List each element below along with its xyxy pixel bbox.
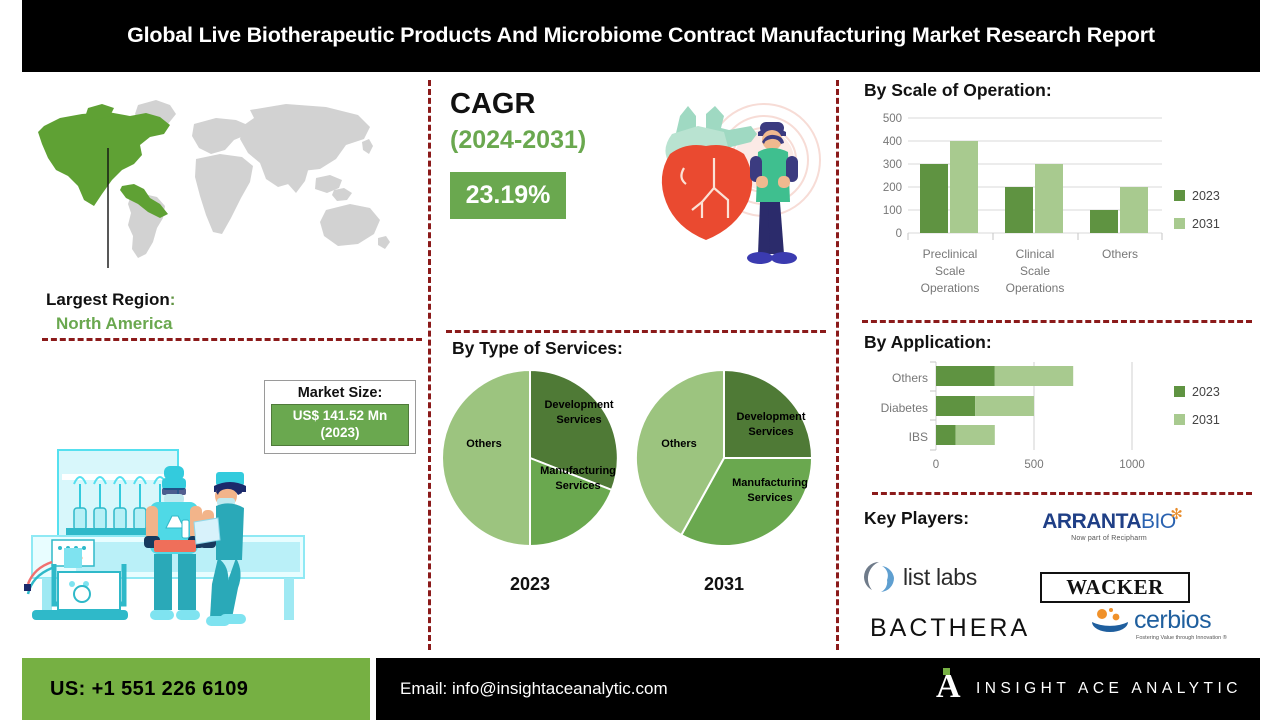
by-application-chart: Others Diabetes IBS 0 500 1000 2023 2031 [862, 358, 1262, 492]
brand-logo: A INSIGHT ACE ANALYTIC [936, 658, 1242, 720]
market-size-value: US$ 141.52 Mn (2023) [271, 404, 409, 446]
footer-phone-text: US: +1 551 226 6109 [50, 678, 248, 701]
horizontal-divider-middle [446, 330, 826, 333]
svg-text:2031: 2031 [1192, 217, 1220, 231]
svg-text:200: 200 [883, 182, 902, 194]
vertical-divider-left [428, 80, 431, 650]
bacthera-logo: BACTHERA [870, 614, 1030, 643]
pie-2023-label-others: Others [454, 438, 514, 450]
cagr-period: (2024-2031) [450, 126, 586, 155]
svg-text:2023: 2023 [1192, 189, 1220, 203]
pie-2031-year: 2031 [634, 574, 814, 595]
wacker-text: WACKER [1066, 575, 1164, 600]
horizontal-divider-left [42, 338, 422, 341]
svg-text:300: 300 [883, 159, 902, 171]
by-scale-of-operation-title: By Scale of Operation: [864, 80, 1052, 101]
pie-2023-year: 2023 [440, 574, 620, 595]
arranta-bio-logo: ✻ ARRANTABIO Now part of Recipharm [1014, 510, 1204, 542]
list-labs-mark-icon [862, 560, 896, 594]
list-labs-text: list labs [903, 564, 977, 591]
horizontal-divider-right-bottom [872, 492, 1252, 495]
pie-2031-label-development: Development Services [722, 410, 820, 440]
by-type-of-services-title: By Type of Services: [452, 338, 623, 359]
largest-region-label: Largest Region: [46, 290, 175, 310]
cagr-value-badge: 23.19% [450, 172, 566, 219]
pie-2023-label-development: Development Services [530, 398, 628, 428]
footer-contact-block: Email: info@insightaceanalytic.com A INS… [376, 658, 1260, 720]
svg-text:0: 0 [896, 228, 902, 240]
svg-text:Others: Others [1102, 247, 1138, 261]
arranta-main-text: ARRANTA [1042, 510, 1141, 533]
footer-bar: US: +1 551 226 6109 Email: info@insighta… [0, 658, 1280, 720]
footer-email-text[interactable]: Email: info@insightaceanalytic.com [400, 679, 668, 699]
svg-text:1000: 1000 [1119, 459, 1145, 471]
wacker-logo: WACKER [1040, 572, 1190, 603]
list-labs-logo: list labs [862, 560, 1032, 594]
brand-name-text: INSIGHT ACE ANALYTIC [976, 680, 1242, 698]
cerbios-logo: cerbios Fostering Value through Innovati… [1090, 606, 1260, 641]
svg-text:2031: 2031 [1192, 413, 1220, 427]
key-players-logos: ✻ ARRANTABIO Now part of Recipharm list … [862, 502, 1262, 652]
brand-mark-icon: A [936, 670, 962, 708]
largest-region-block: Largest Region: North America [46, 290, 175, 334]
svg-text:400: 400 [883, 136, 902, 148]
svg-text:Scale: Scale [1020, 264, 1050, 278]
infographic-body: Largest Region: North America Market Siz… [0, 72, 1280, 655]
pie-chart-2031: Others Development Services Manufacturin… [634, 368, 814, 595]
pie-2023-label-manufacturing: Manufacturing Services [528, 464, 628, 494]
svg-text:Preclinical: Preclinical [923, 247, 978, 261]
svg-text:Others: Others [892, 371, 928, 385]
svg-text:500: 500 [1024, 459, 1043, 471]
page-title: Global Live Biotherapeutic Products And … [117, 22, 1165, 50]
svg-text:0: 0 [933, 459, 939, 471]
svg-text:Diabetes: Diabetes [881, 401, 928, 415]
svg-text:IBS: IBS [909, 430, 928, 444]
heart-health-illustration-icon [614, 82, 824, 287]
brand-letter: A [936, 670, 962, 704]
sparkle-icon: ✻ [1170, 505, 1183, 523]
world-map-icon [26, 86, 416, 286]
by-scale-of-operation-chart: 500400 300200 1000 PreclinicalScaleOpera… [862, 112, 1262, 322]
laboratory-illustration-icon [14, 444, 414, 644]
svg-text:2023: 2023 [1192, 385, 1220, 399]
svg-text:Clinical: Clinical [1016, 247, 1055, 261]
cerbios-mark-icon [1090, 608, 1134, 638]
pie-chart-2023: Others Development Services Manufacturin… [440, 368, 620, 595]
report-header-banner: Global Live Biotherapeutic Products And … [22, 0, 1260, 72]
arranta-tagline: Now part of Recipharm [1014, 535, 1204, 542]
market-size-label: Market Size: [271, 385, 409, 401]
brand-accent-dot-icon [943, 668, 950, 675]
cerbios-text: cerbios [1134, 606, 1260, 635]
footer-phone-block[interactable]: US: +1 551 226 6109 [22, 658, 370, 720]
svg-text:500: 500 [883, 113, 902, 125]
vertical-divider-right [836, 80, 839, 650]
pie-2031-label-manufacturing: Manufacturing Services [720, 476, 820, 506]
largest-region-value: North America [56, 314, 175, 334]
svg-text:100: 100 [883, 205, 902, 217]
by-application-title: By Application: [864, 332, 992, 353]
cagr-label: CAGR [450, 88, 535, 121]
market-size-card: Market Size: US$ 141.52 Mn (2023) [264, 380, 416, 454]
svg-text:Operations: Operations [921, 281, 980, 295]
by-type-of-services-charts: Others Development Services Manufacturin… [436, 368, 832, 633]
svg-text:Operations: Operations [1006, 281, 1065, 295]
pie-2031-label-others: Others [644, 438, 714, 450]
svg-text:Scale: Scale [935, 264, 965, 278]
